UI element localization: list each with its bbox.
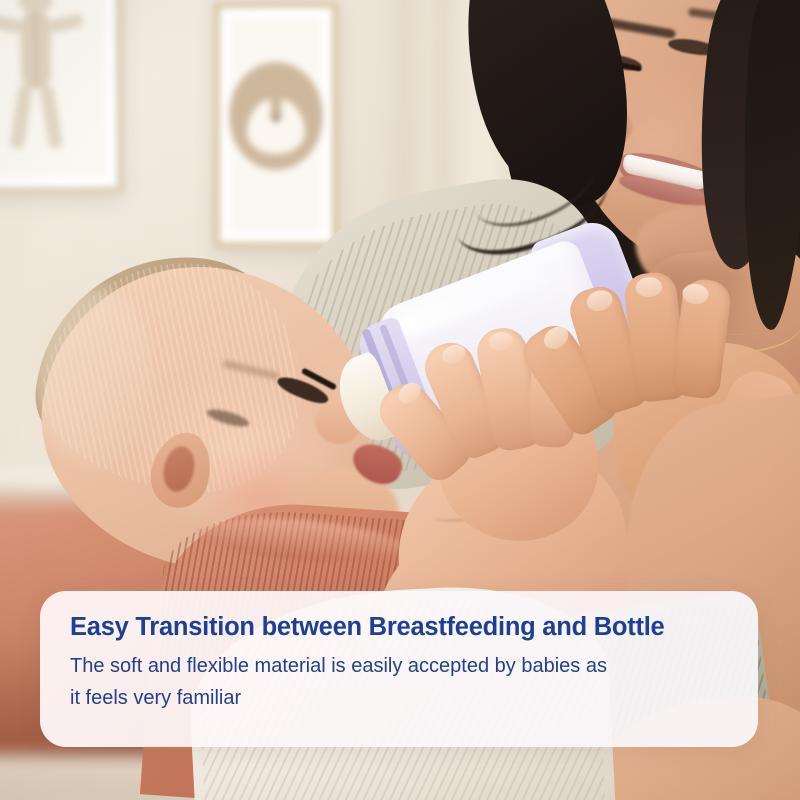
caption-body-line-1: The soft and flexible material is easily… — [70, 655, 607, 677]
caption-card: Easy Transition between Breastfeeding an… — [40, 591, 758, 747]
caption-body-line-2: it feels very familiar — [70, 687, 241, 709]
caption-title: Easy Transition between Breastfeeding an… — [70, 613, 728, 641]
product-lifestyle-image: Easy Transition between Breastfeeding an… — [0, 0, 800, 800]
framed-figure-sketch — [0, 0, 124, 195]
framed-face-print — [214, 2, 338, 248]
caption-body: The soft and flexible material is easily… — [70, 650, 670, 715]
figure-sketch-icon — [0, 0, 82, 163]
face-print-icon — [229, 62, 323, 170]
baby-hair-highlight — [34, 288, 154, 468]
